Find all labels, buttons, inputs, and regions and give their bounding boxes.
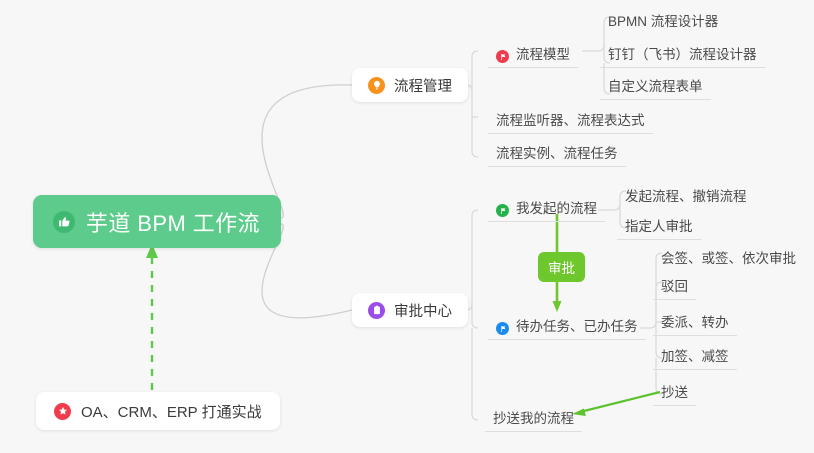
leaf-reject[interactable]: 驳回 [653, 276, 696, 300]
mindmap-canvas: 芋道 BPM 工作流 流程管理 流程模型 BPMN 流程设计器 钉钉（飞书）流程… [0, 0, 814, 453]
leaf-instance-task-label: 流程实例、流程任务 [496, 142, 618, 162]
leaf-carbon-copy[interactable]: 抄送 [653, 382, 696, 406]
leaf-bpmn-designer-label: BPMN 流程设计器 [608, 10, 718, 30]
leaf-custom-form-label: 自定义流程表单 [608, 75, 703, 95]
star-icon [54, 403, 71, 420]
leaf-assignee-approval[interactable]: 指定人审批 [617, 216, 701, 240]
leaf-bpmn-designer[interactable]: BPMN 流程设计器 [600, 10, 726, 34]
leaf-countersign[interactable]: 会签、或签、依次审批 [653, 247, 804, 271]
leaf-my-started-process-label: 我发起的流程 [516, 197, 597, 217]
flag-icon [496, 50, 509, 63]
leaf-assignee-approval-label: 指定人审批 [625, 215, 693, 235]
root-label: 芋道 BPM 工作流 [86, 206, 260, 238]
leaf-carbon-copy-label: 抄送 [661, 381, 688, 401]
leaf-cc-to-me[interactable]: 抄送我的流程 [485, 408, 582, 432]
branch-process-management[interactable]: 流程管理 [352, 68, 468, 102]
leaf-delegate-transfer[interactable]: 委派、转办 [653, 312, 737, 336]
leaf-todo-done-tasks-label: 待办任务、已办任务 [516, 315, 638, 335]
branch-approval-center[interactable]: 审批中心 [352, 293, 468, 327]
branch-process-management-label: 流程管理 [394, 75, 452, 96]
leaf-reject-label: 驳回 [661, 275, 688, 295]
leaf-listener-expression[interactable]: 流程监听器、流程表达式 [488, 110, 653, 134]
root-node[interactable]: 芋道 BPM 工作流 [33, 195, 281, 248]
leaf-add-remove-sign[interactable]: 加签、减签 [653, 346, 737, 370]
approval-flow-arrowhead [553, 301, 562, 312]
leaf-cc-to-me-label: 抄送我的流程 [493, 407, 574, 427]
leaf-todo-done-tasks[interactable]: 待办任务、已办任务 [488, 316, 646, 340]
leaf-instance-task[interactable]: 流程实例、流程任务 [488, 143, 626, 167]
leaf-start-cancel-process-label: 发起流程、撤销流程 [625, 185, 747, 205]
branch-approval-center-label: 审批中心 [394, 300, 452, 321]
leaf-add-remove-sign-label: 加签、减签 [661, 345, 729, 365]
integration-card-label: OA、CRM、ERP 打通实战 [81, 401, 262, 422]
integration-card[interactable]: OA、CRM、ERP 打通实战 [36, 392, 280, 430]
leaf-countersign-label: 会签、或签、依次审批 [661, 247, 796, 267]
leaf-dingtalk-designer-label: 钉钉（飞书）流程设计器 [608, 43, 757, 63]
leaf-my-started-process[interactable]: 我发起的流程 [488, 198, 605, 222]
leaf-listener-expression-label: 流程监听器、流程表达式 [496, 109, 645, 129]
thumbs-up-icon [53, 211, 75, 233]
lightbulb-icon [368, 77, 385, 94]
leaf-process-model-label: 流程模型 [516, 43, 570, 63]
approval-tag[interactable]: 审批 [538, 252, 585, 282]
leaf-dingtalk-designer[interactable]: 钉钉（飞书）流程设计器 [600, 44, 765, 68]
flag-icon [496, 322, 509, 335]
leaf-process-model[interactable]: 流程模型 [488, 44, 578, 68]
leaf-delegate-transfer-label: 委派、转办 [661, 311, 729, 331]
approval-tag-label: 审批 [548, 257, 575, 277]
flag-icon [496, 204, 509, 217]
clipboard-icon [368, 302, 385, 319]
leaf-start-cancel-process[interactable]: 发起流程、撤销流程 [617, 185, 755, 209]
leaf-custom-form[interactable]: 自定义流程表单 [600, 76, 711, 100]
